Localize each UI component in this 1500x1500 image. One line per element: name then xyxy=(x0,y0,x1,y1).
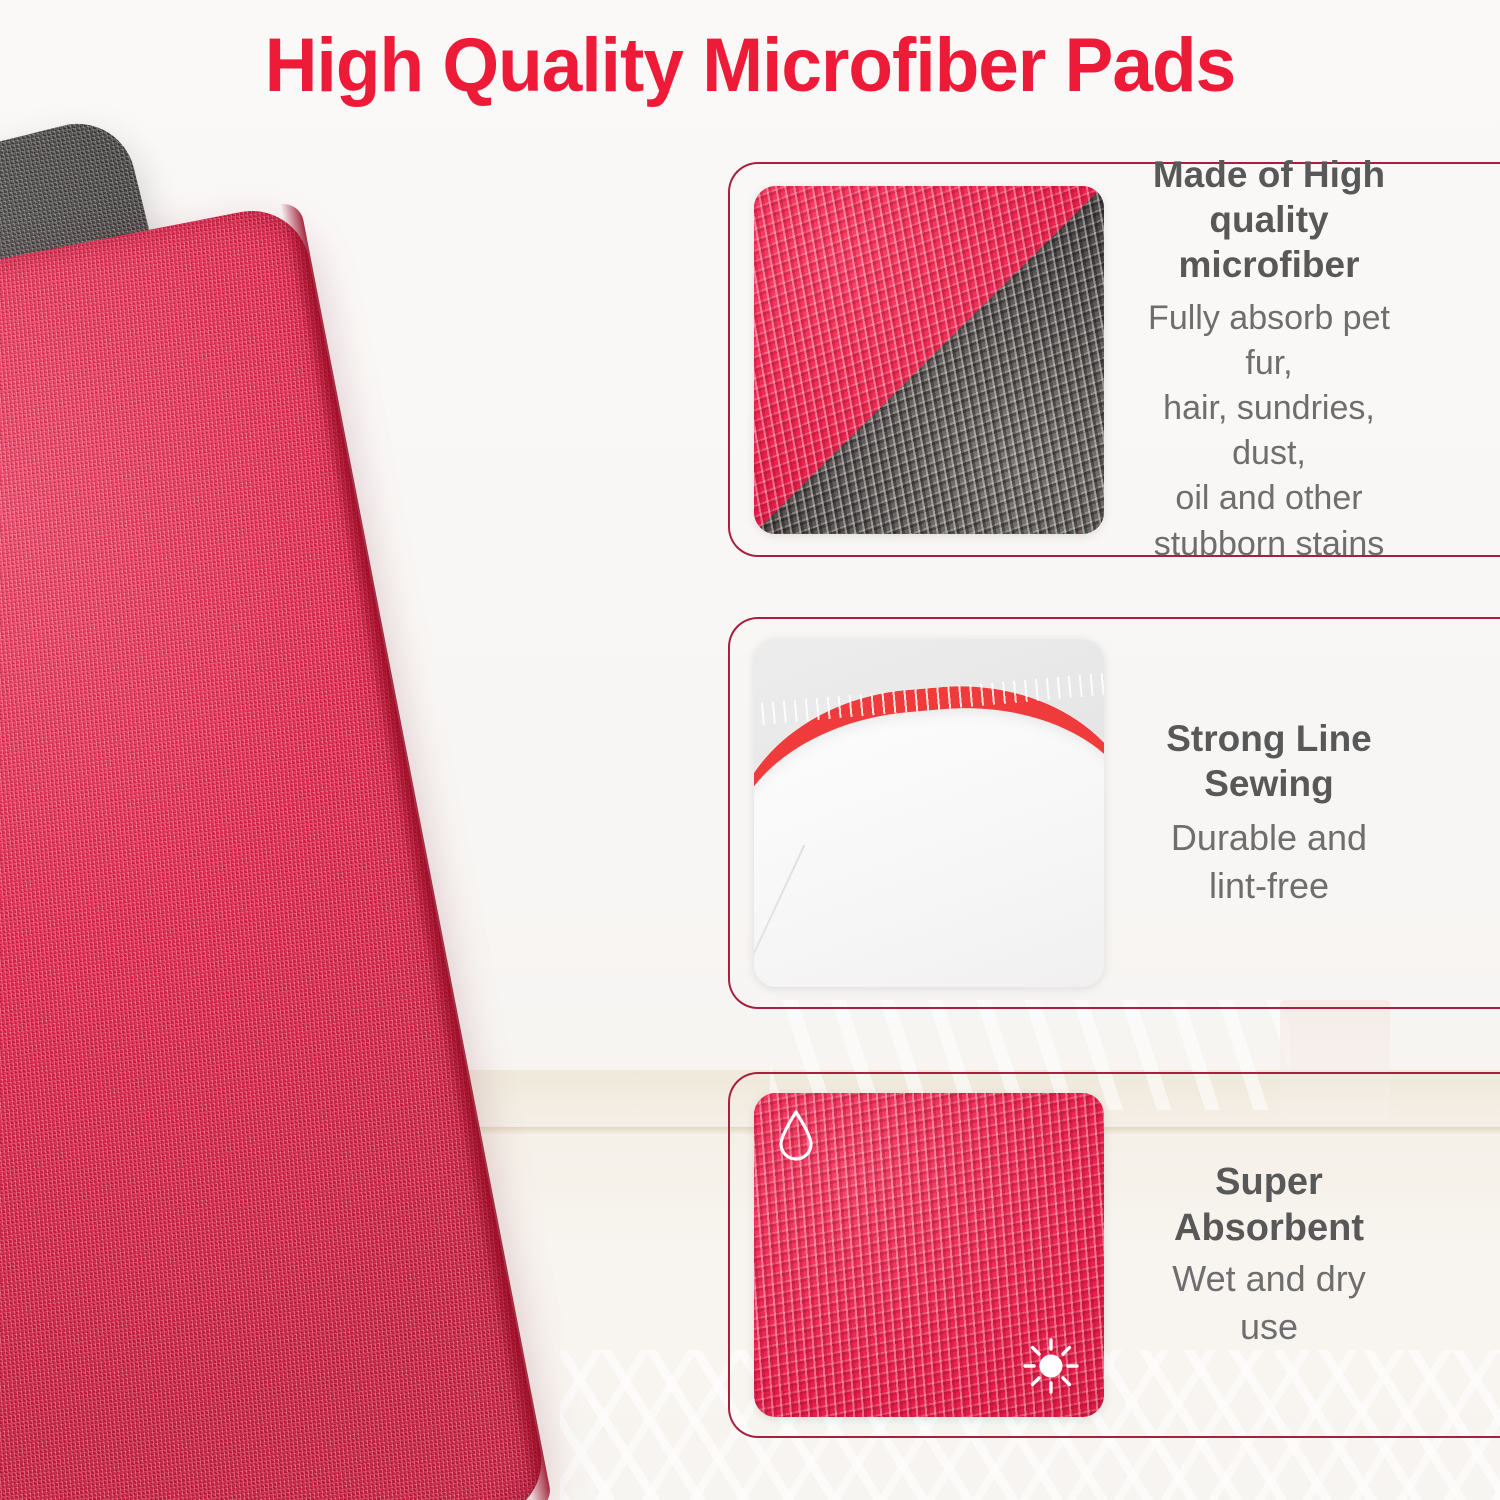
red-microfiber-pad xyxy=(0,201,551,1500)
feature-title-line: quality microfiber xyxy=(1140,197,1398,287)
feature-body-sewing: Durable and lint-free xyxy=(1140,814,1398,910)
page-title: High Quality Microfiber Pads xyxy=(30,26,1470,106)
red-and-gray-microfiber-closeup xyxy=(754,186,1104,534)
feature-body-microfiber: Fully absorb pet fur, hair, sundries, du… xyxy=(1140,296,1398,567)
feature-body-line: stubborn stains xyxy=(1140,522,1398,567)
feature-title-absorbent: Super Absorbent xyxy=(1140,1159,1398,1252)
feature-thumbnail-absorbent xyxy=(754,1093,1104,1417)
feature-title-line: Sewing xyxy=(1140,761,1398,806)
white-pad-corner-with-red-stitched-binding xyxy=(754,639,1104,987)
infographic-page: High Quality Microfiber Pads Made of Hig… xyxy=(0,0,1500,1500)
feature-card-microfiber: Made of High quality microfiber Fully ab… xyxy=(728,162,1500,557)
feature-body-absorbent: Wet and dry use xyxy=(1140,1255,1398,1351)
feature-body-line: Wet and dry use xyxy=(1140,1255,1398,1351)
water-drop-icon xyxy=(776,1109,816,1161)
feature-card-absorbent: Super Absorbent Wet and dry use xyxy=(728,1072,1500,1438)
feature-body-line: hair, sundries, dust, xyxy=(1140,386,1398,476)
feature-card-sewing: Strong Line Sewing Durable and lint-free xyxy=(728,617,1500,1009)
feature-title-sewing: Strong Line Sewing xyxy=(1140,716,1398,806)
feature-title-line: Made of High xyxy=(1140,152,1398,197)
sun-icon xyxy=(1022,1337,1080,1395)
feature-thumbnail-sewing xyxy=(754,639,1104,987)
feature-title-line: Strong Line xyxy=(1140,716,1398,761)
feature-title-microfiber: Made of High quality microfiber xyxy=(1140,152,1398,287)
stitched-pad-corner xyxy=(754,670,1104,987)
feature-body-line: Fully absorb pet fur, xyxy=(1140,296,1398,386)
feature-copy-sewing: Strong Line Sewing Durable and lint-free xyxy=(1104,716,1500,910)
feature-title-line: Super Absorbent xyxy=(1140,1159,1398,1252)
feature-copy-absorbent: Super Absorbent Wet and dry use xyxy=(1104,1159,1500,1351)
feature-copy-microfiber: Made of High quality microfiber Fully ab… xyxy=(1104,152,1500,567)
feature-body-line: oil and other xyxy=(1140,476,1398,521)
hero-product-photo xyxy=(0,150,720,1500)
feature-body-line: Durable and xyxy=(1140,814,1398,862)
feature-body-line: lint-free xyxy=(1140,862,1398,910)
feature-thumbnail-microfiber xyxy=(754,186,1104,534)
